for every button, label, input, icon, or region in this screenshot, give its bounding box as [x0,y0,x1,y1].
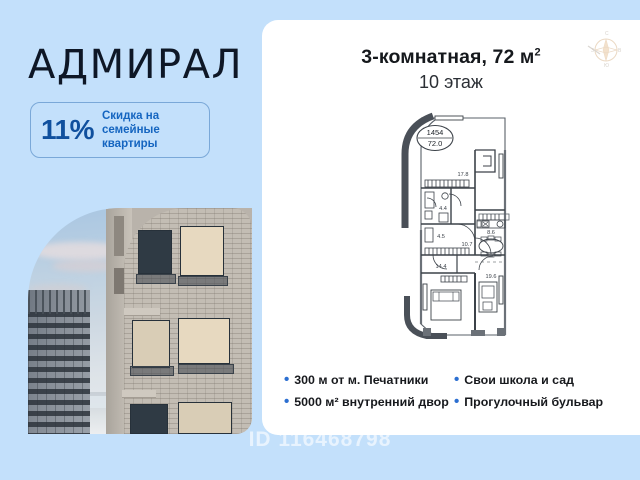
balcony-rail [178,276,228,286]
feature-text: Свои школа и сад [464,373,574,387]
svg-text:З: З [591,48,594,54]
window-ledge [124,308,160,316]
balcony-rail [136,274,176,284]
brand-logo: АДМИРАЛ [28,45,238,85]
bullet-dot-icon: • [284,394,289,409]
svg-text:Ю: Ю [604,63,609,69]
badge-apartment-area: 72.0 [428,139,443,148]
svg-text:С: С [605,31,609,37]
feature-text: 5000 м² внутренний двор [294,395,449,409]
compass-icon: С В Ю З [580,26,626,72]
room-area-label: 10.7 [462,242,473,248]
list-item: • 300 м от м. Печатники [284,373,454,387]
advertisement-banner: АДМИРАЛ 11% Скидка на семейные квартиры [0,0,640,480]
feature-text: 300 м от м. Печатники [294,373,428,387]
page-title-superscript: 2 [534,47,540,59]
discount-line-1: Скидка на [102,109,160,123]
room-area-label: 19.6 [486,274,497,280]
list-item: • 5000 м² внутренний двор [284,395,454,409]
room-area-label: 8.6 [487,230,495,236]
window-ledge [122,390,156,398]
side-window [114,216,124,256]
building-photo [28,208,252,434]
balcony-rail [130,366,174,376]
balcony-rail [178,364,234,374]
bullet-dot-icon: • [454,394,459,409]
discount-badge: 11% Скидка на семейные квартиры [30,102,210,158]
svg-text:В: В [618,48,622,54]
brand-column: АДМИРАЛ 11% Скидка на семейные квартиры [0,0,262,480]
neighbor-tower-windows [28,312,90,434]
floor-subtitle: 10 этаж [262,72,640,93]
page-title-text: 3-комнатная, 72 м [361,46,534,68]
facade-window-lit [132,320,170,368]
feature-list: • 300 м от м. Печатники • 5000 м² внутре… [284,373,624,418]
neighbor-tower-top-fins [28,290,90,314]
room-area-label: 17.8 [458,172,469,178]
facade-window-lit [178,318,230,364]
bullet-dot-icon: • [454,372,459,387]
facade-window [138,230,172,274]
side-window [114,268,124,294]
room-area-label: 4.4 [439,206,447,212]
facade-window-lit [180,226,224,276]
list-item: • Прогулочный бульвар [454,395,624,409]
discount-line-2: семейные [102,123,160,137]
list-item: • Свои школа и сад [454,373,624,387]
badge-apartment-number: 1454 [427,128,444,137]
feature-column-left: • 300 м от м. Печатники • 5000 м² внутре… [284,373,454,418]
room-area-label: 4.5 [437,234,445,240]
feature-column-right: • Свои школа и сад • Прогулочный бульвар [454,373,624,418]
discount-line-3: квартиры [102,137,160,151]
room-area-label: 14.4 [436,264,447,270]
discount-percent: 11% [31,116,102,144]
bullet-dot-icon: • [284,372,289,387]
watermark: ID 116468798 [0,428,640,452]
apartment-badge: 1454 72.0 [417,126,453,151]
listing-card: 3-комнатная, 72 м2 10 этаж С В Ю З [262,20,640,435]
floor-plan: 1454 72.0 17.8 4.4 4.5 10.7 8.6 14.4 19.… [387,110,547,345]
feature-text: Прогулочный бульвар [464,395,603,409]
discount-description: Скидка на семейные квартиры [102,109,160,151]
